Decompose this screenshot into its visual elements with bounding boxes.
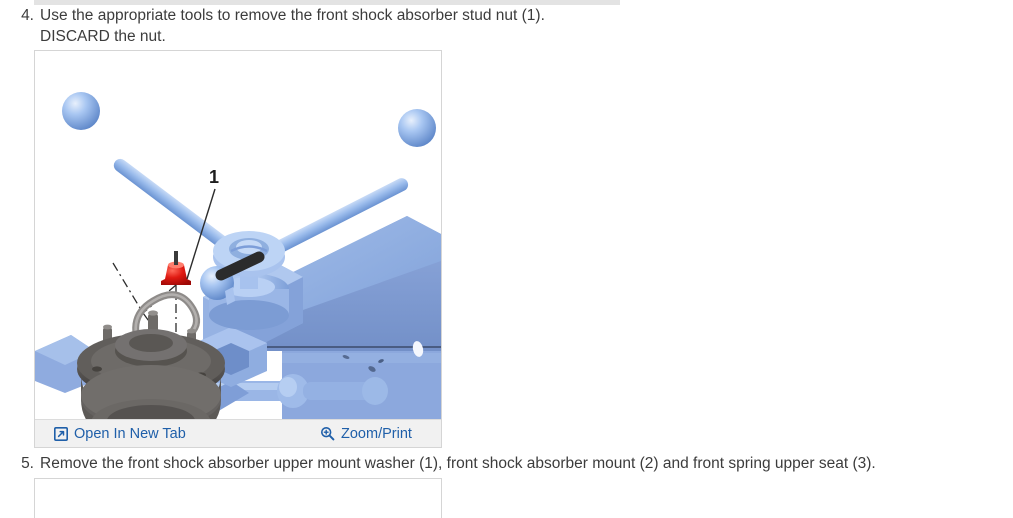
zoom-print-label: Zoom/Print: [341, 426, 412, 442]
step-4-line-1: Use the appropriate tools to remove the …: [40, 5, 545, 26]
figure-toolbar: Open In New Tab Zoom/Print: [35, 419, 441, 447]
open-in-new-tab-label: Open In New Tab: [74, 426, 186, 442]
zoom-print-button[interactable]: Zoom/Print: [320, 426, 412, 442]
step-5-number: 5.: [6, 453, 34, 474]
step-4-number: 4.: [6, 5, 34, 26]
external-link-icon: [54, 427, 68, 441]
figure-illustration: 1: [35, 51, 441, 419]
open-in-new-tab-button[interactable]: Open In New Tab: [54, 426, 186, 442]
next-figure-container: [34, 478, 442, 518]
step-4-line-2: DISCARD the nut.: [40, 26, 166, 47]
magnifier-plus-icon: [320, 426, 335, 441]
step-5-line-1: Remove the front shock absorber upper mo…: [40, 453, 876, 474]
figure-container: 1: [34, 50, 442, 448]
callout-1-label: 1: [209, 167, 219, 187]
